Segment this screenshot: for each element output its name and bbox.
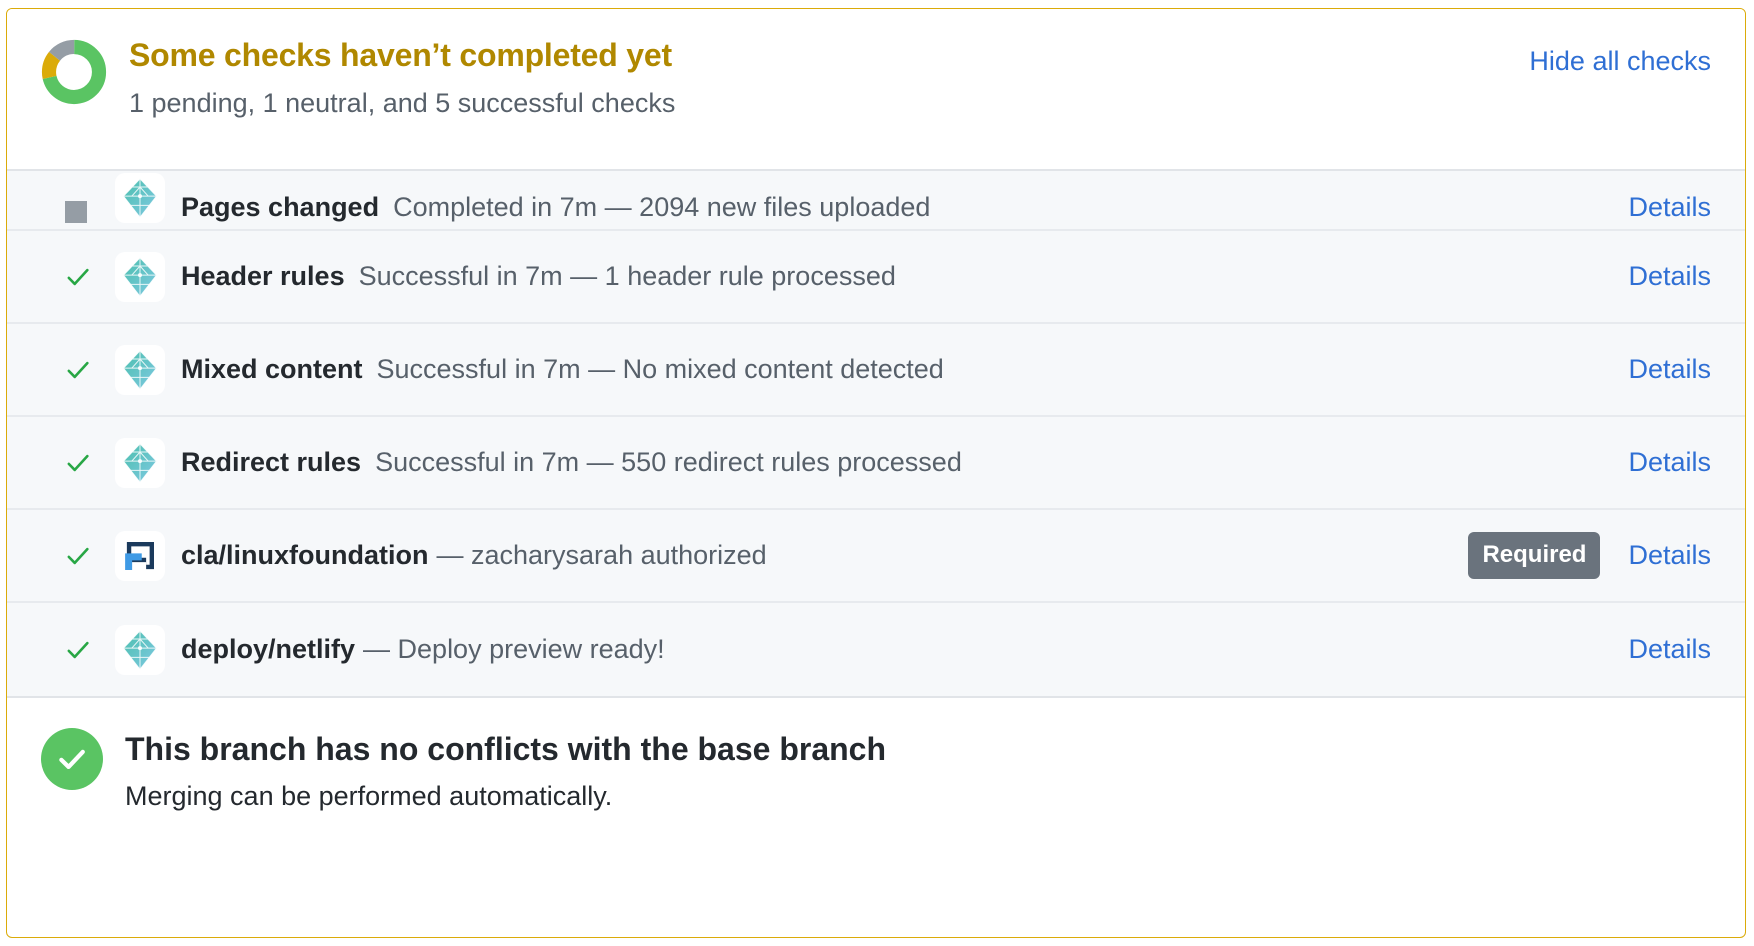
check-icon [65, 637, 91, 663]
check-status-cell [41, 357, 115, 383]
check-row[interactable]: Mixed contentSuccessful in 7m — No mixed… [7, 324, 1745, 417]
netlify-icon [115, 173, 165, 223]
details-link[interactable]: Details [1628, 540, 1711, 571]
check-row[interactable]: Redirect rulesSuccessful in 7m — 550 red… [7, 417, 1745, 510]
check-description: Successful in 7m — 550 redirect rules pr… [375, 447, 962, 478]
check-row[interactable]: Pages changedCompleted in 7m — 2094 new … [7, 171, 1745, 231]
check-row[interactable]: Header rulesSuccessful in 7m — 1 header … [7, 231, 1745, 324]
check-name: cla/linuxfoundation [181, 540, 429, 571]
check-circle-icon [41, 728, 103, 790]
check-row[interactable]: deploy/netlify— Deploy preview ready!Det… [7, 603, 1745, 696]
check-name: deploy/netlify [181, 634, 355, 665]
check-status-cell [41, 637, 115, 663]
merge-conflict-status: This branch has no conflicts with the ba… [7, 696, 1745, 814]
check-description: Successful in 7m — 1 header rule process… [359, 261, 896, 292]
details-link[interactable]: Details [1628, 447, 1711, 478]
checks-header-subtitle: 1 pending, 1 neutral, and 5 successful c… [129, 85, 1529, 121]
details-link[interactable]: Details [1628, 261, 1711, 292]
check-icon [65, 450, 91, 476]
check-description: Successful in 7m — No mixed content dete… [377, 354, 944, 385]
linux-foundation-icon [115, 531, 165, 581]
check-name: Mixed content [181, 354, 363, 385]
required-badge: Required [1468, 532, 1600, 579]
check-icon [65, 264, 91, 290]
checks-header-title: Some checks haven’t completed yet [129, 35, 1529, 75]
merge-status-box: Some checks haven’t completed yet 1 pend… [6, 8, 1746, 938]
details-link[interactable]: Details [1628, 354, 1711, 385]
check-icon [65, 543, 91, 569]
details-link[interactable]: Details [1628, 634, 1711, 665]
check-status-cell [41, 201, 115, 223]
neutral-square-icon [65, 201, 87, 223]
netlify-icon [115, 345, 165, 395]
checks-status-donut-chart [41, 39, 107, 105]
checks-header-text: Some checks haven’t completed yet 1 pend… [129, 35, 1529, 121]
netlify-icon [115, 438, 165, 488]
check-status-cell [41, 264, 115, 290]
details-link[interactable]: Details [1628, 192, 1711, 223]
checks-header: Some checks haven’t completed yet 1 pend… [7, 9, 1745, 169]
merge-status-text: This branch has no conflicts with the ba… [125, 728, 1711, 814]
checks-list: Pages changedCompleted in 7m — 2094 new … [7, 169, 1745, 696]
hide-all-checks-link[interactable]: Hide all checks [1529, 43, 1711, 79]
check-status-cell [41, 450, 115, 476]
check-row[interactable]: cla/linuxfoundation— zacharysarah author… [7, 510, 1745, 603]
check-description: — zacharysarah authorized [437, 540, 767, 571]
check-name: Header rules [181, 261, 345, 292]
netlify-icon [115, 252, 165, 302]
merge-status-title: This branch has no conflicts with the ba… [125, 730, 1711, 768]
netlify-icon [115, 625, 165, 675]
check-description: — Deploy preview ready! [363, 634, 665, 665]
check-status-cell [41, 543, 115, 569]
check-description: Completed in 7m — 2094 new files uploade… [393, 192, 930, 223]
merge-status-subtitle: Merging can be performed automatically. [125, 778, 1711, 814]
check-name: Pages changed [181, 192, 379, 223]
check-name: Redirect rules [181, 447, 361, 478]
check-icon [65, 357, 91, 383]
